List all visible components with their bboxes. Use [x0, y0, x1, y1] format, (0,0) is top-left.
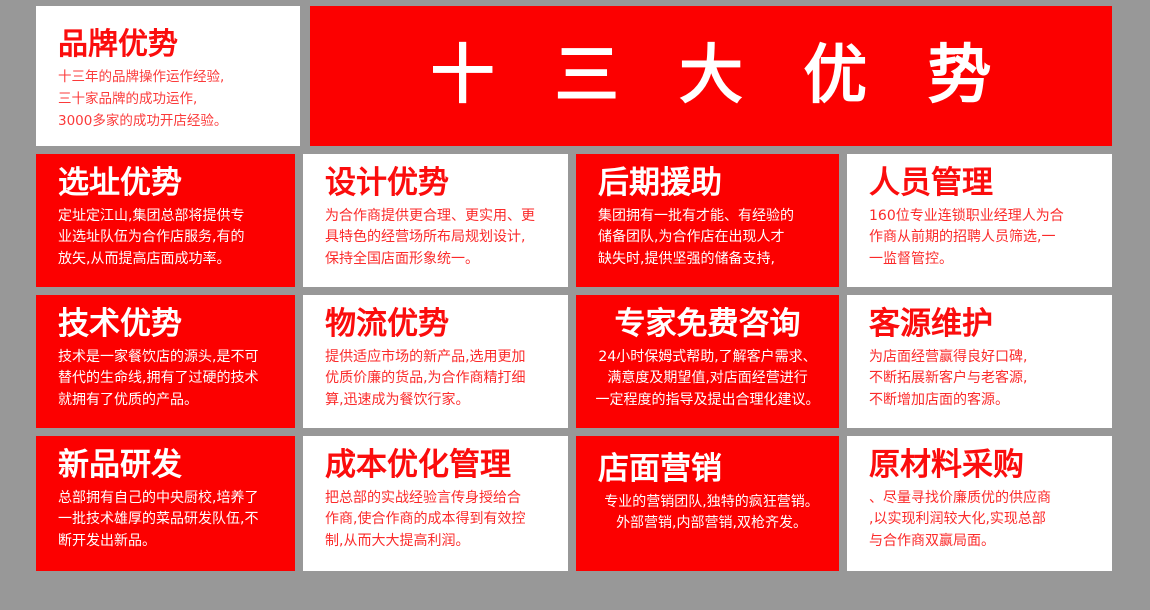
card-body-line: 缺失时,提供坚强的储备支持,	[598, 249, 825, 271]
card-body-line: 技术是一家餐饮店的源头,是不可	[58, 347, 281, 369]
card-body-line: 一监督管控。	[869, 249, 1098, 271]
card-body-line: 算,迅速成为餐饮行家。	[325, 390, 554, 412]
card-body: 160位专业连锁职业经理人为合 作商从前期的招聘人员筛选,一 一监督管控。	[869, 206, 1098, 271]
card-body-line: 三十家品牌的成功运作,	[58, 89, 286, 111]
card-body-line: 定址定江山,集团总部将提供专	[58, 206, 281, 228]
card-body-line: 不断拓展新客户与老客源,	[869, 368, 1098, 390]
card-brand-advantage: 品牌优势 十三年的品牌操作运作经验, 三十家品牌的成功运作, 3000多家的成功…	[36, 6, 300, 146]
advantage-row-1: 选址优势 定址定江山,集团总部将提供专 业选址队伍为合作店服务,有的 放矢,从而…	[36, 154, 1112, 287]
card-raw-material-purchase: 原材料采购 、尽量寻找价廉质优的供应商 ,以实现利润较大化,实现总部 与合作商双…	[847, 436, 1112, 571]
main-banner: 十 三 大 优 势	[310, 6, 1112, 146]
card-title: 后期援助	[598, 166, 825, 201]
card-body: 为店面经营赢得良好口碑, 不断拓展新客户与老客源, 不断增加店面的客源。	[869, 347, 1098, 412]
card-new-product-rnd: 新品研发 总部拥有自己的中央厨校,培养了 一批技术雄厚的菜品研发队伍,不 断开发…	[36, 436, 295, 571]
card-body: 、尽量寻找价廉质优的供应商 ,以实现利润较大化,实现总部 与合作商双赢局面。	[869, 488, 1098, 553]
card-title: 设计优势	[325, 166, 554, 201]
card-body-line: 集团拥有一批有才能、有经验的	[598, 206, 825, 228]
card-customer-retention: 客源维护 为店面经营赢得良好口碑, 不断拓展新客户与老客源, 不断增加店面的客源…	[847, 295, 1112, 428]
card-body-line: ,以实现利润较大化,实现总部	[869, 509, 1098, 531]
card-expert-free-consult: 专家免费咨询 24小时保姆式帮助,了解客户需求、 满意度及期望值,对店面经营进行…	[576, 295, 839, 428]
card-title: 客源维护	[869, 307, 1098, 342]
card-body-line: 提供适应市场的新产品,选用更加	[325, 347, 554, 369]
card-body-line: 3000多家的成功开店经验。	[58, 111, 286, 133]
card-later-support: 后期援助 集团拥有一批有才能、有经验的 储备团队,为合作店在出现人才 缺失时,提…	[576, 154, 839, 287]
card-body-line: 一定程度的指导及提出合理化建议。	[588, 390, 827, 412]
card-title: 技术优势	[58, 307, 281, 342]
card-design: 设计优势 为合作商提供更合理、更实用、更 具特色的经营场所布局规划设计, 保持全…	[303, 154, 568, 287]
card-body-line: 就拥有了优质的产品。	[58, 390, 281, 412]
card-body-line: 总部拥有自己的中央厨校,培养了	[58, 488, 281, 510]
card-body-line: 满意度及期望值,对店面经营进行	[588, 368, 827, 390]
card-body: 总部拥有自己的中央厨校,培养了 一批技术雄厚的菜品研发队伍,不 断开发出新品。	[58, 488, 281, 553]
card-title: 选址优势	[58, 166, 281, 201]
card-body-line: 与合作商双赢局面。	[869, 531, 1098, 553]
card-cost-optimization: 成本优化管理 把总部的实战经验言传身授给合 作商,使合作商的成本得到有效控 制,…	[303, 436, 568, 571]
card-title: 店面营销	[598, 452, 825, 487]
card-title: 专家免费咨询	[588, 307, 827, 342]
card-body-line: 一批技术雄厚的菜品研发队伍,不	[58, 509, 281, 531]
poster-root: 品牌优势 十三年的品牌操作运作经验, 三十家品牌的成功运作, 3000多家的成功…	[0, 0, 1150, 610]
card-technology: 技术优势 技术是一家餐饮店的源头,是不可 替代的生命线,拥有了过硬的技术 就拥有…	[36, 295, 295, 428]
card-body-line: 、尽量寻找价廉质优的供应商	[869, 488, 1098, 510]
card-body-line: 十三年的品牌操作运作经验,	[58, 67, 286, 89]
card-body-line: 作商,使合作商的成本得到有效控	[325, 509, 554, 531]
card-body: 专业的营销团队,独特的疯狂营销。 外部营销,内部营销,双枪齐发。	[598, 492, 825, 535]
card-body-line: 24小时保姆式帮助,了解客户需求、	[588, 347, 827, 369]
card-body-line: 优质价廉的货品,为合作商精打细	[325, 368, 554, 390]
card-body-line: 外部营销,内部营销,双枪齐发。	[598, 513, 825, 535]
card-title: 原材料采购	[869, 448, 1098, 483]
card-body-line: 作商从前期的招聘人员筛选,一	[869, 227, 1098, 249]
card-body-line: 替代的生命线,拥有了过硬的技术	[58, 368, 281, 390]
card-body-line: 制,从而大大提高利润。	[325, 531, 554, 553]
card-title: 新品研发	[58, 448, 281, 483]
card-body: 定址定江山,集团总部将提供专 业选址队伍为合作店服务,有的 放矢,从而提高店面成…	[58, 206, 281, 271]
card-body: 24小时保姆式帮助,了解客户需求、 满意度及期望值,对店面经营进行 一定程度的指…	[588, 347, 827, 412]
header-row: 品牌优势 十三年的品牌操作运作经验, 三十家品牌的成功运作, 3000多家的成功…	[36, 6, 1112, 146]
card-site-selection: 选址优势 定址定江山,集团总部将提供专 业选址队伍为合作店服务,有的 放矢,从而…	[36, 154, 295, 287]
card-body: 十三年的品牌操作运作经验, 三十家品牌的成功运作, 3000多家的成功开店经验。	[58, 67, 286, 133]
card-body-line: 保持全国店面形象统一。	[325, 249, 554, 271]
card-body: 为合作商提供更合理、更实用、更 具特色的经营场所布局规划设计, 保持全国店面形象…	[325, 206, 554, 271]
card-body-line: 断开发出新品。	[58, 531, 281, 553]
card-body: 把总部的实战经验言传身授给合 作商,使合作商的成本得到有效控 制,从而大大提高利…	[325, 488, 554, 553]
advantage-row-2: 技术优势 技术是一家餐饮店的源头,是不可 替代的生命线,拥有了过硬的技术 就拥有…	[36, 295, 1112, 428]
advantage-row-3: 新品研发 总部拥有自己的中央厨校,培养了 一批技术雄厚的菜品研发队伍,不 断开发…	[36, 436, 1112, 571]
card-body: 集团拥有一批有才能、有经验的 储备团队,为合作店在出现人才 缺失时,提供坚强的储…	[598, 206, 825, 271]
card-title: 物流优势	[325, 307, 554, 342]
card-body-line: 具特色的经营场所布局规划设计,	[325, 227, 554, 249]
card-body: 提供适应市场的新产品,选用更加 优质价廉的货品,为合作商精打细 算,迅速成为餐饮…	[325, 347, 554, 412]
banner-title: 十 三 大 优 势	[411, 44, 1010, 108]
card-store-marketing: 店面营销 专业的营销团队,独特的疯狂营销。 外部营销,内部营销,双枪齐发。	[576, 436, 839, 571]
card-body-line: 把总部的实战经验言传身授给合	[325, 488, 554, 510]
card-logistics: 物流优势 提供适应市场的新产品,选用更加 优质价廉的货品,为合作商精打细 算,迅…	[303, 295, 568, 428]
card-body-line: 放矢,从而提高店面成功率。	[58, 249, 281, 271]
card-body-line: 不断增加店面的客源。	[869, 390, 1098, 412]
card-title: 成本优化管理	[325, 448, 554, 483]
card-body-line: 为合作商提供更合理、更实用、更	[325, 206, 554, 228]
card-title: 品牌优势	[58, 28, 286, 61]
card-body-line: 专业的营销团队,独特的疯狂营销。	[598, 492, 825, 514]
card-body-line: 160位专业连锁职业经理人为合	[869, 206, 1098, 228]
card-body-line: 为店面经营赢得良好口碑,	[869, 347, 1098, 369]
card-body-line: 储备团队,为合作店在出现人才	[598, 227, 825, 249]
card-title: 人员管理	[869, 166, 1098, 201]
card-personnel-management: 人员管理 160位专业连锁职业经理人为合 作商从前期的招聘人员筛选,一 一监督管…	[847, 154, 1112, 287]
card-body: 技术是一家餐饮店的源头,是不可 替代的生命线,拥有了过硬的技术 就拥有了优质的产…	[58, 347, 281, 412]
card-body-line: 业选址队伍为合作店服务,有的	[58, 227, 281, 249]
